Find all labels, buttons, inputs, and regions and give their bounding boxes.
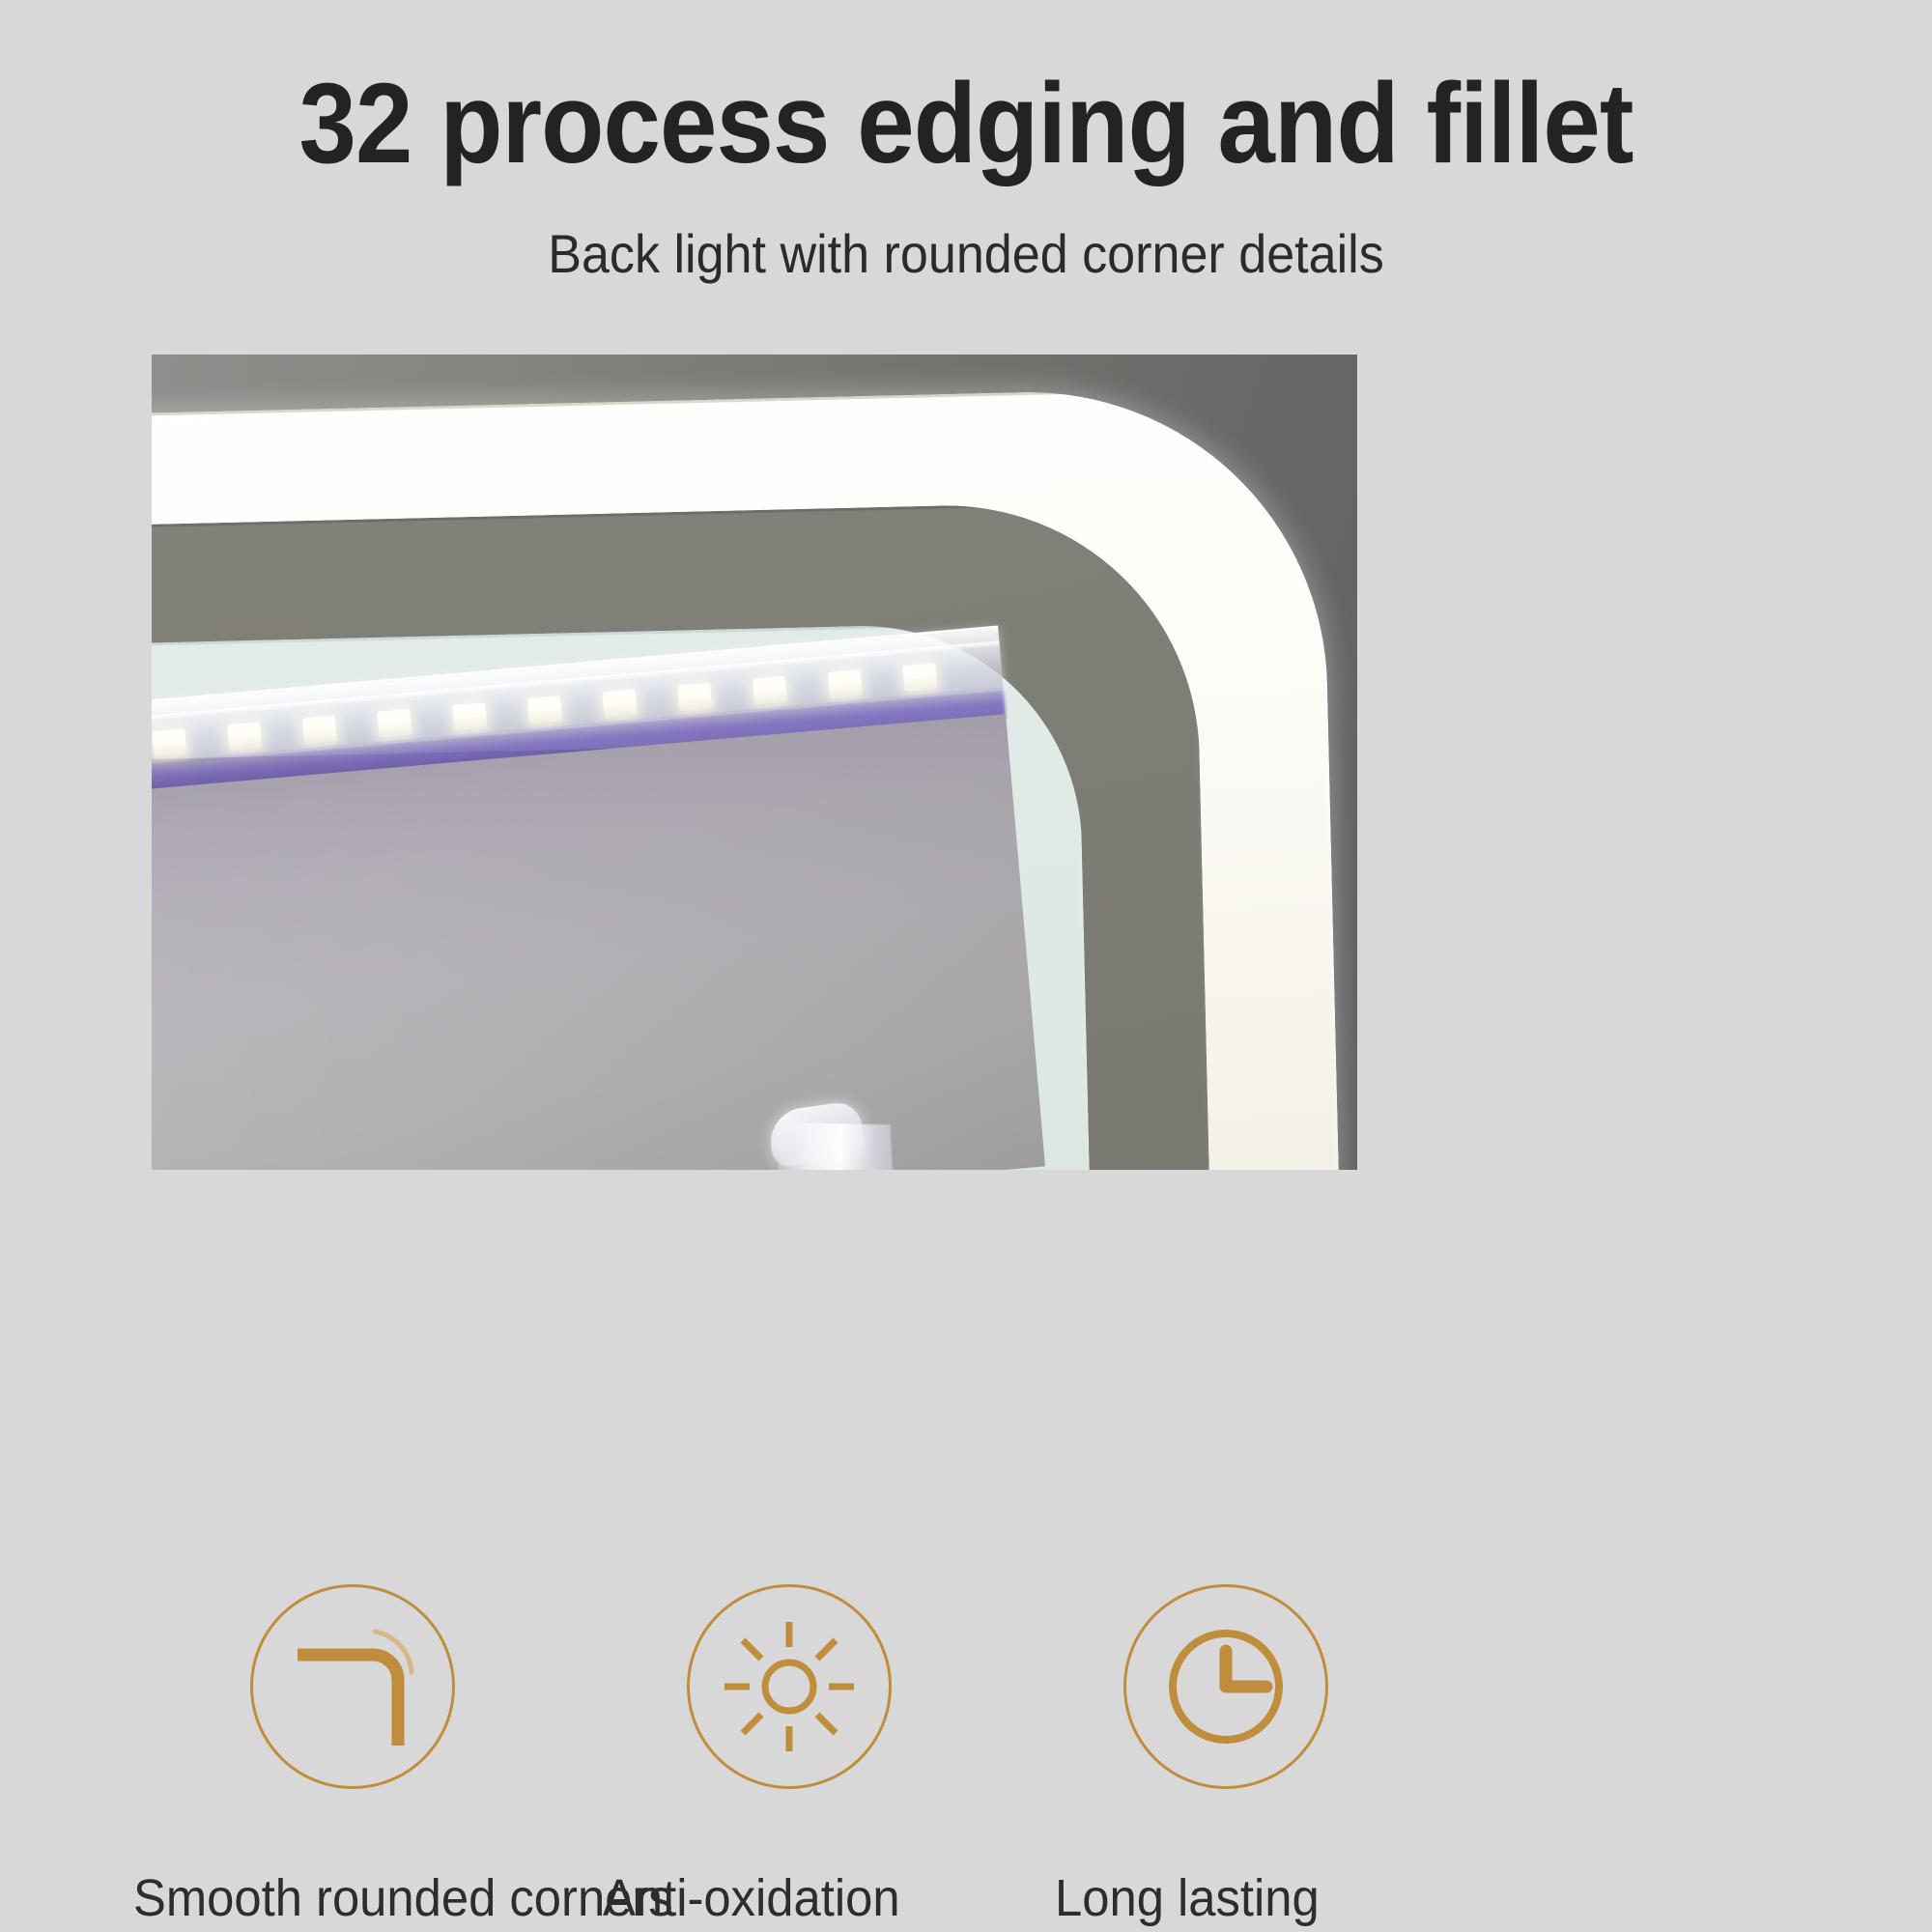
sun-brightness-icon xyxy=(717,1614,862,1759)
led-emitter xyxy=(527,696,562,724)
led-emitter xyxy=(902,663,937,692)
led-emitter xyxy=(302,716,337,745)
led-emitter xyxy=(828,669,863,698)
mirror-glass-panel xyxy=(152,714,1045,1170)
led-emitter xyxy=(377,709,412,738)
rounded-corner-icon xyxy=(280,1614,425,1759)
page-subtitle: Back light with rounded corner details xyxy=(68,222,1864,285)
led-emitter xyxy=(602,689,637,718)
feature-item-smooth-rounded-corners: Smooth rounded corners xyxy=(106,1584,599,1928)
rounded-corner-icon-circle xyxy=(250,1584,455,1789)
led-emitter xyxy=(677,683,712,712)
feature-label: Long lasting xyxy=(1055,1868,1443,1928)
clock-icon xyxy=(1153,1614,1298,1759)
feature-list: Smooth rounded corners Anti-oxidation xyxy=(106,1584,1536,1928)
hero-product-photo xyxy=(152,355,1357,1170)
feature-label: Anti-oxidation xyxy=(603,1868,989,1928)
led-emitter xyxy=(452,702,487,731)
feature-item-long-lasting: Long lasting xyxy=(1014,1584,1468,1928)
led-emitter xyxy=(227,722,262,751)
led-emitter xyxy=(152,728,186,757)
header: 32 process edging and fillet Back light … xyxy=(0,0,1932,285)
clock-icon-circle xyxy=(1123,1584,1328,1789)
mirror-glass-front-edge-highlight xyxy=(776,1122,907,1170)
sun-brightness-icon-circle xyxy=(687,1584,892,1789)
page-title: 32 process edging and fillet xyxy=(92,60,1840,187)
mirror-assembly xyxy=(152,625,1045,1170)
feature-label: Smooth rounded corners xyxy=(133,1868,571,1928)
led-emitter xyxy=(753,676,787,705)
feature-item-anti-oxidation: Anti-oxidation xyxy=(599,1584,1014,1928)
